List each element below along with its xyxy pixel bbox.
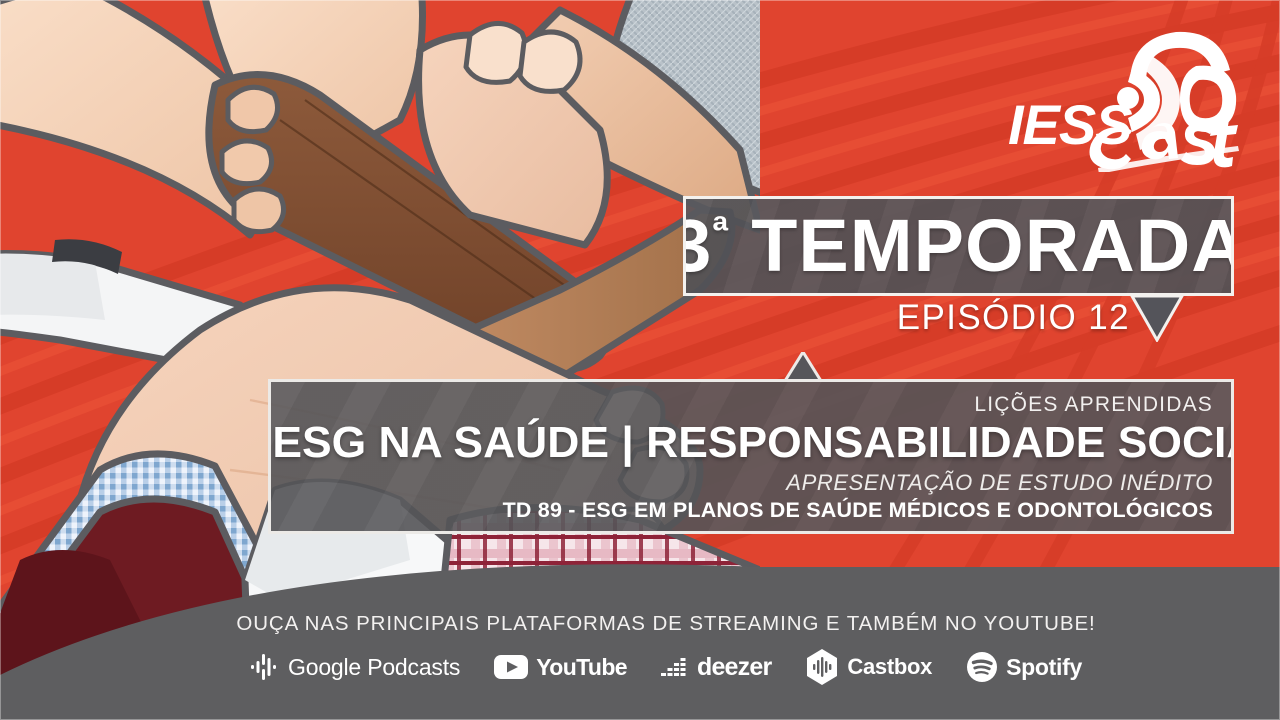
bottom-tagline: OUÇA NAS PRINCIPAIS PLATAFORMAS DE STREA… bbox=[236, 612, 1095, 636]
streaming-platforms-bar: OUÇA NAS PRINCIPAIS PLATAFORMAS DE STREA… bbox=[0, 555, 1280, 720]
google-podcasts-icon bbox=[250, 652, 280, 682]
spotify-icon bbox=[966, 651, 998, 683]
season-badge: 3ª TEMPORADA bbox=[683, 196, 1234, 296]
platform-logo-row: Google Podcasts YouTube bbox=[250, 650, 1082, 684]
episode-label: EPISÓDIO 12 bbox=[740, 298, 1130, 338]
platform-spotify[interactable]: Spotify bbox=[966, 650, 1082, 684]
platform-castbox[interactable]: Castbox bbox=[805, 650, 932, 684]
platform-label: YouTube bbox=[536, 654, 627, 681]
platform-label: Spotify bbox=[1006, 654, 1082, 681]
platform-google-podcasts[interactable]: Google Podcasts bbox=[250, 650, 460, 684]
castbox-icon bbox=[805, 648, 839, 686]
platform-label: Google Podcasts bbox=[288, 654, 460, 681]
title-study-reference: TD 89 - ESG EM PLANOS DE SAÚDE MÉDICOS E… bbox=[503, 498, 1213, 523]
episode-headline: ESG NA SAÚDE | RESPONSABILIDADE SOCIAL bbox=[268, 418, 1218, 468]
youtube-icon bbox=[494, 655, 528, 679]
title-kicker: LIÇÕES APRENDIDAS bbox=[974, 393, 1213, 417]
iesscast-logo: IESS bbox=[980, 22, 1248, 172]
svg-text:IESS: IESS bbox=[1008, 93, 1132, 156]
title-panel-pointer bbox=[784, 352, 822, 382]
platform-youtube[interactable]: YouTube bbox=[494, 650, 627, 684]
platform-deezer[interactable]: deezer bbox=[661, 650, 771, 684]
platform-label: Castbox bbox=[847, 654, 932, 680]
deezer-icon bbox=[661, 656, 689, 678]
season-label: 3ª TEMPORADA bbox=[683, 209, 1234, 283]
platform-label: deezer bbox=[697, 653, 771, 682]
title-subline: APRESENTAÇÃO DE ESTUDO INÉDITO bbox=[786, 470, 1213, 496]
season-badge-tail bbox=[1130, 296, 1184, 342]
podcast-episode-poster: IESS 3ª TEMPORADA EPISÓDIO 12 bbox=[0, 0, 1280, 720]
episode-title-panel: LIÇÕES APRENDIDAS ESG NA SAÚDE | RESPONS… bbox=[268, 379, 1234, 534]
